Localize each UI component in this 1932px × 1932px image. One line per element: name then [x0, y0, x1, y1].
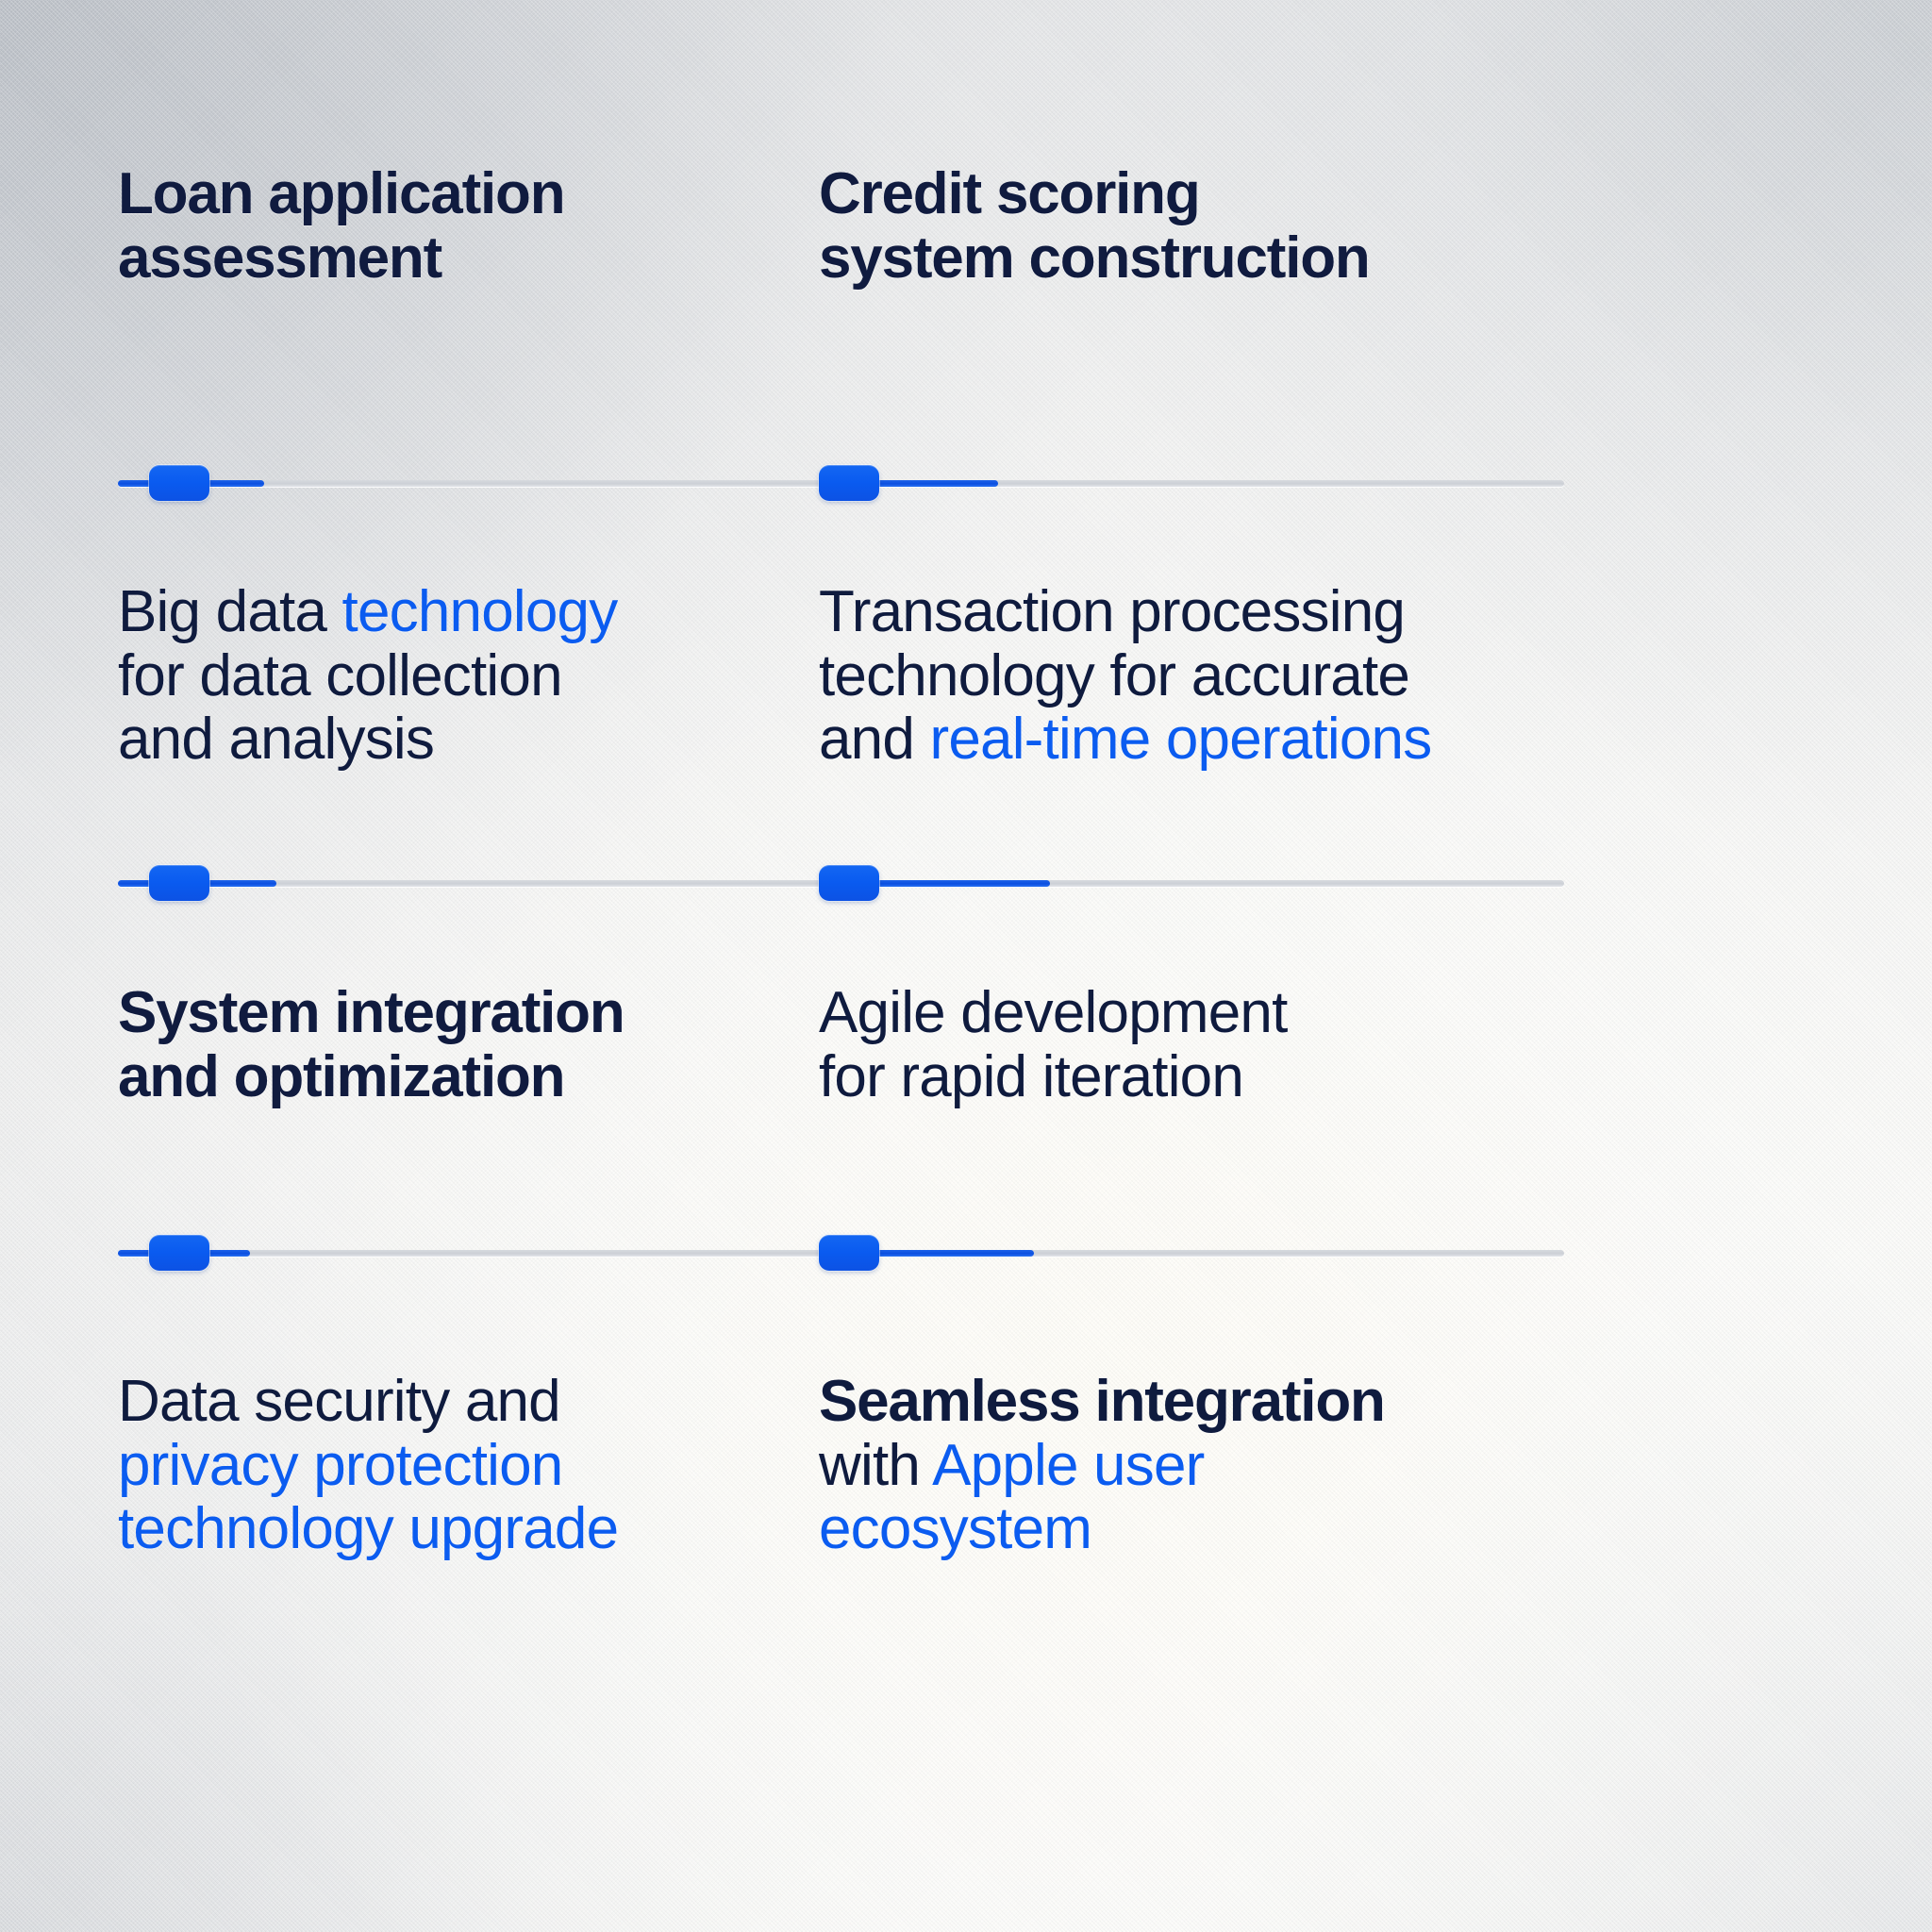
right-slider-1-handle[interactable] — [819, 465, 879, 501]
right-body-3-line-1: Seamless integration — [819, 1370, 1385, 1434]
right-body-3-seg-1: with — [819, 1433, 932, 1498]
left-body-2-line-1: System integration — [118, 981, 625, 1045]
right-heading: Credit scoring system construction — [819, 162, 1370, 290]
right-body-3-line-3: ecosystem — [819, 1497, 1385, 1561]
right-slider-2-handle[interactable] — [819, 865, 879, 901]
left-body-1: Big data technology for data collection … — [118, 580, 617, 772]
left-body-3-line-3: technology upgrade — [118, 1497, 618, 1561]
left-body-3: Data security and privacy protection tec… — [118, 1370, 618, 1561]
left-body-3-line-2: privacy protection — [118, 1434, 618, 1498]
left-slider-3[interactable] — [118, 1232, 882, 1274]
left-body-1-seg-1: Big data — [118, 579, 342, 644]
left-body-2: System integration and optimization — [118, 981, 625, 1108]
left-body-1-line-2: for data collection — [118, 644, 617, 708]
left-slider-2-handle[interactable] — [149, 865, 209, 901]
right-heading-line-1: Credit scoring — [819, 162, 1370, 226]
left-body-3-line-1: Data security and — [118, 1370, 618, 1434]
right-slider-3[interactable] — [819, 1232, 1564, 1274]
right-heading-line-2: system construction — [819, 226, 1370, 291]
right-body-1-line-1: Transaction processing — [819, 580, 1431, 644]
right-slider-2[interactable] — [819, 862, 1564, 904]
left-heading-line-2: assessment — [118, 226, 564, 291]
right-body-1-seg-2: real-time operations — [929, 707, 1431, 772]
left-body-1-line-1: Big data technology — [118, 580, 617, 644]
slide-canvas: Loan application assessment Big data tec… — [0, 0, 1932, 1932]
left-body-2-line-2: and optimization — [118, 1045, 625, 1109]
right-body-3: Seamless integration with Apple user eco… — [819, 1370, 1385, 1561]
right-body-1-line-2: technology for accurate — [819, 644, 1431, 708]
left-slider-1[interactable] — [118, 462, 882, 504]
left-body-1-seg-2: technology — [342, 579, 618, 644]
left-heading-line-1: Loan application — [118, 162, 564, 226]
left-slider-3-handle[interactable] — [149, 1235, 209, 1271]
right-body-1: Transaction processing technology for ac… — [819, 580, 1431, 772]
right-body-2-line-1: Agile development — [819, 981, 1288, 1045]
right-body-1-line-3: and real-time operations — [819, 708, 1431, 772]
right-slider-3-handle[interactable] — [819, 1235, 879, 1271]
right-body-1-seg-1: and — [819, 707, 929, 772]
content-grid: Loan application assessment Big data tec… — [0, 0, 1932, 1932]
left-slider-2[interactable] — [118, 862, 882, 904]
right-body-2-line-2: for rapid iteration — [819, 1045, 1288, 1109]
right-body-3-line-2: with Apple user — [819, 1434, 1385, 1498]
left-slider-1-handle[interactable] — [149, 465, 209, 501]
left-body-1-line-3: and analysis — [118, 708, 617, 772]
right-body-3-seg-2: Apple user — [932, 1433, 1204, 1498]
right-body-2: Agile development for rapid iteration — [819, 981, 1288, 1108]
left-heading: Loan application assessment — [118, 162, 564, 290]
right-slider-1[interactable] — [819, 462, 1564, 504]
